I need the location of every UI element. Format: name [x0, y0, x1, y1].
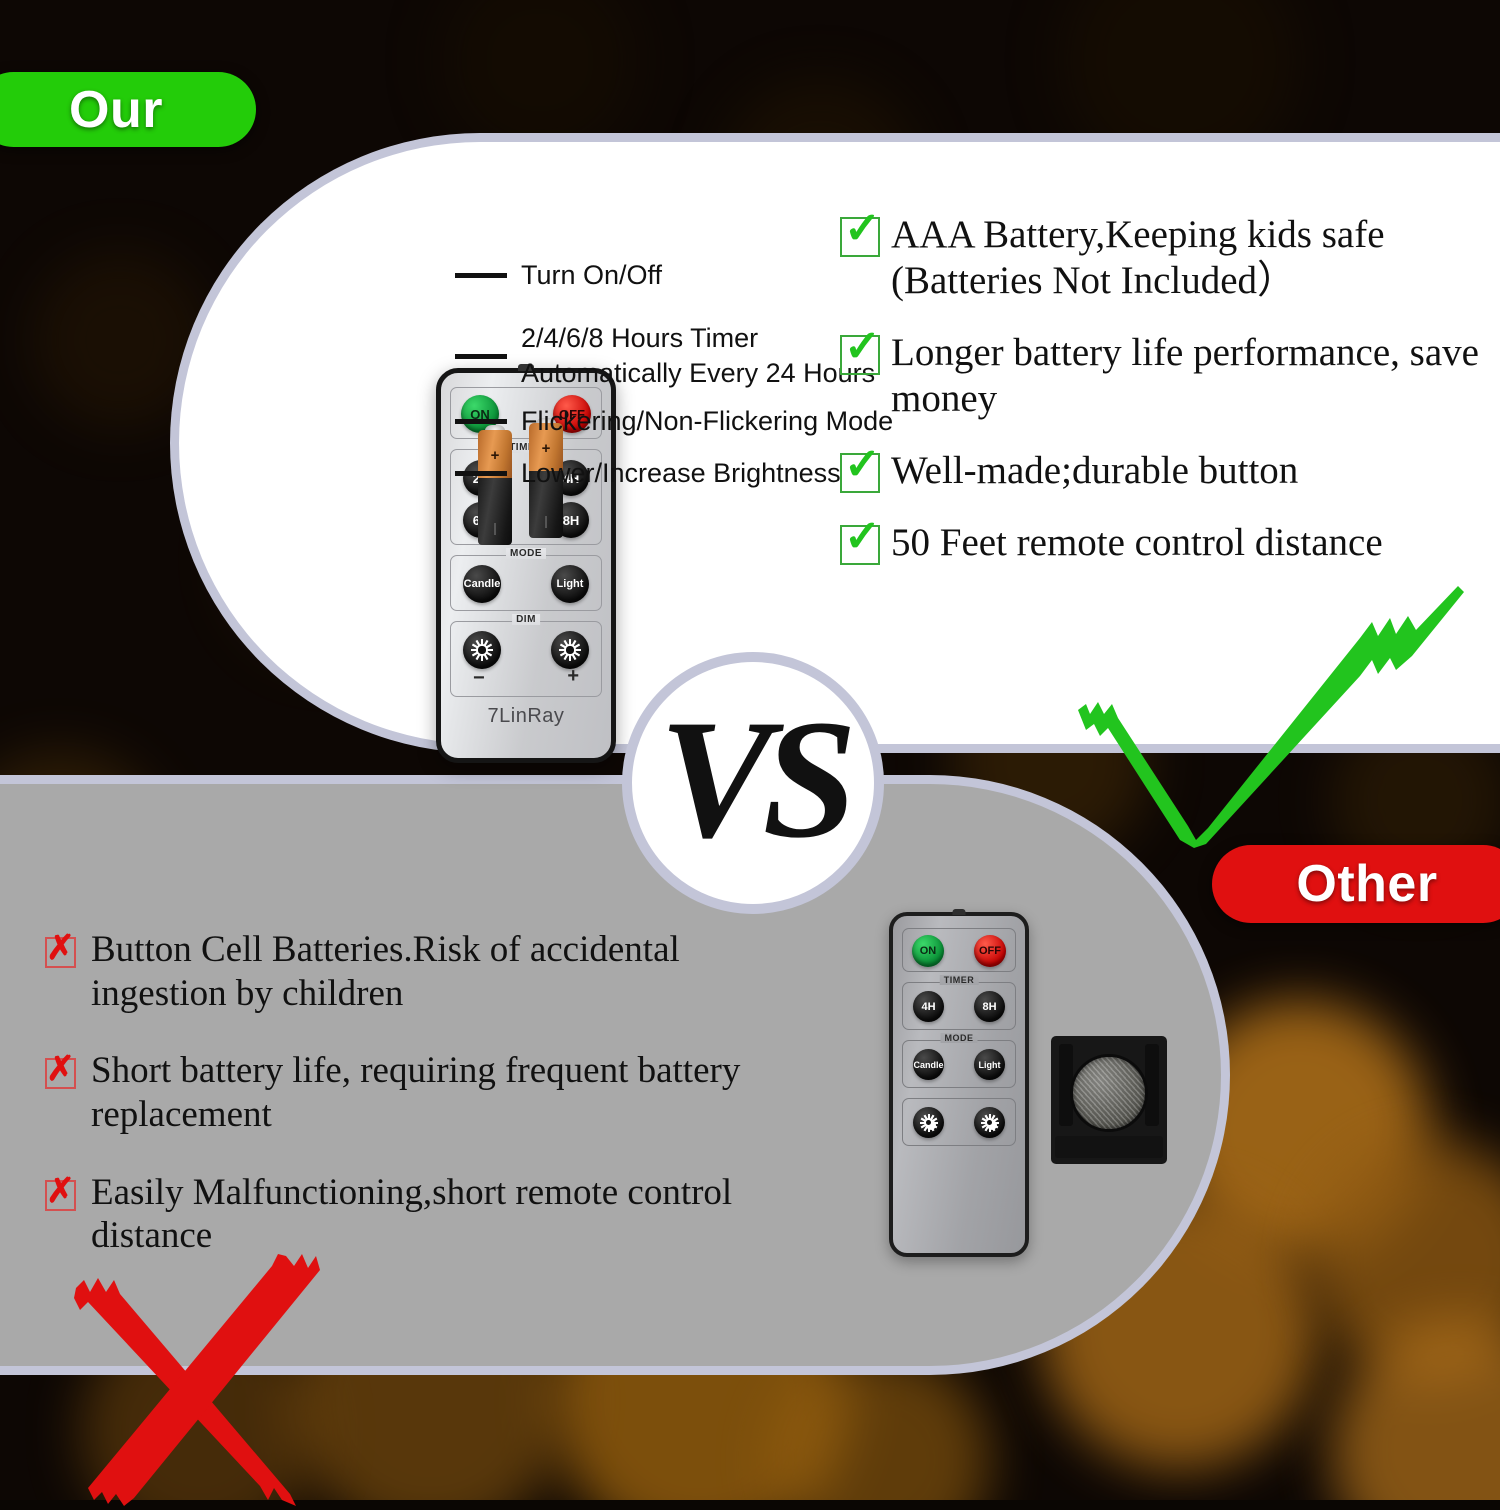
list-item: ✗ Short battery life, requiring frequent…: [45, 1049, 785, 1136]
dim-down-button[interactable]: [913, 1107, 944, 1138]
other-badge: Other: [1212, 845, 1500, 923]
x-icon: ✗: [45, 937, 76, 968]
list-item: ✓ AAA Battery,Keeping kids safe (Batteri…: [840, 212, 1480, 304]
remote-brand-label: 7LinRay: [441, 705, 611, 728]
red-x-brush-icon: [58, 1248, 368, 1510]
callout-leader-line: [455, 471, 507, 476]
minus-sign: −: [473, 667, 485, 690]
check-icon: ✓: [840, 335, 880, 375]
timer-group-label: TIMER: [940, 975, 979, 985]
callout-leader-line: [455, 273, 507, 278]
dim-group-label: DIM: [512, 614, 540, 625]
list-item: ✗ Button Cell Batteries.Risk of accident…: [45, 928, 785, 1015]
cons-item-label: Short battery life, requiring frequent b…: [91, 1049, 785, 1136]
cons-item-label: Button Cell Batteries.Risk of accidental…: [91, 928, 785, 1015]
x-icon: ✗: [45, 1058, 76, 1089]
callout-timer: 2/4/6/8 Hours Timer Automatically Every …: [455, 321, 875, 391]
check-icon: ✓: [840, 217, 880, 257]
dim-up-button[interactable]: [551, 631, 589, 669]
list-item: ✓ Longer battery life performance, save …: [840, 330, 1480, 422]
timer-4h-button[interactable]: 4H: [913, 991, 944, 1022]
callout-mode: Flickering/Non-Flickering Mode: [455, 404, 893, 439]
vs-label: VS: [659, 694, 847, 864]
callout-leader-line: [455, 419, 507, 424]
callout-label: Flickering/Non-Flickering Mode: [521, 404, 893, 439]
vs-badge: VS: [622, 652, 884, 914]
pros-item-label: 50 Feet remote control distance: [891, 520, 1383, 566]
dim-group: [902, 1098, 1016, 1146]
cons-list: ✗ Button Cell Batteries.Risk of accident…: [45, 928, 785, 1292]
brightness-sun-icon: [471, 639, 493, 661]
cons-item-label: Easily Malfunctioning,short remote contr…: [91, 1171, 785, 1258]
other-remote-control: ON OFF TIMER 4H 8H MODE Candle Light: [889, 912, 1029, 1257]
callout-label: Turn On/Off: [521, 258, 662, 293]
ir-emitter: [953, 909, 966, 915]
pros-item-label: AAA Battery,Keeping kids safe (Batteries…: [891, 212, 1480, 304]
power-group: ON OFF: [902, 928, 1016, 972]
mode-group-label: MODE: [506, 548, 546, 559]
dim-up-button[interactable]: [974, 1107, 1005, 1138]
callout-label: Lower/Increase Brightness: [521, 456, 841, 491]
candle-mode-button[interactable]: Candle: [913, 1049, 944, 1080]
candle-mode-button[interactable]: Candle: [463, 565, 501, 603]
list-item: ✗ Easily Malfunctioning,short remote con…: [45, 1171, 785, 1258]
brightness-sun-icon: [920, 1114, 938, 1132]
list-item: ✓ 50 Feet remote control distance: [840, 520, 1480, 566]
off-button[interactable]: OFF: [974, 935, 1006, 967]
battery-plus-label: +: [529, 441, 563, 456]
brightness-sun-icon: [559, 639, 581, 661]
callout-label: 2/4/6/8 Hours Timer Automatically Every …: [521, 321, 875, 391]
pros-item-label: Well-made;durable button: [891, 448, 1298, 494]
light-mode-button[interactable]: Light: [551, 565, 589, 603]
callout-power: Turn On/Off: [455, 258, 662, 293]
timer-group: TIMER 4H 8H: [902, 982, 1016, 1030]
mode-group: MODE Candle Light: [450, 555, 602, 611]
callout-leader-line: [455, 354, 507, 359]
green-check-brush-icon: [1060, 578, 1480, 848]
brightness-sun-icon: [981, 1114, 999, 1132]
dim-down-button[interactable]: [463, 631, 501, 669]
holder-base: [1055, 1136, 1163, 1158]
coin-cell-battery: [1051, 1036, 1167, 1164]
pros-list: ✓ AAA Battery,Keeping kids safe (Batteri…: [840, 212, 1480, 592]
pros-item-label: Longer battery life performance, save mo…: [891, 330, 1480, 422]
on-button[interactable]: ON: [912, 935, 944, 967]
timer-8h-button[interactable]: 8H: [974, 991, 1005, 1022]
our-badge: Our: [0, 72, 256, 147]
check-icon: ✓: [840, 453, 880, 493]
dim-group: DIM − +: [450, 621, 602, 697]
plus-sign: +: [567, 665, 579, 688]
mode-group: MODE Candle Light: [902, 1040, 1016, 1088]
mode-group-label: MODE: [941, 1033, 978, 1043]
list-item: ✓ Well-made;durable button: [840, 448, 1480, 494]
callout-dim: Lower/Increase Brightness: [455, 456, 841, 491]
check-icon: ✓: [840, 525, 880, 565]
x-icon: ✗: [45, 1180, 76, 1211]
light-mode-button[interactable]: Light: [974, 1049, 1005, 1080]
button-cell: [1070, 1054, 1148, 1132]
